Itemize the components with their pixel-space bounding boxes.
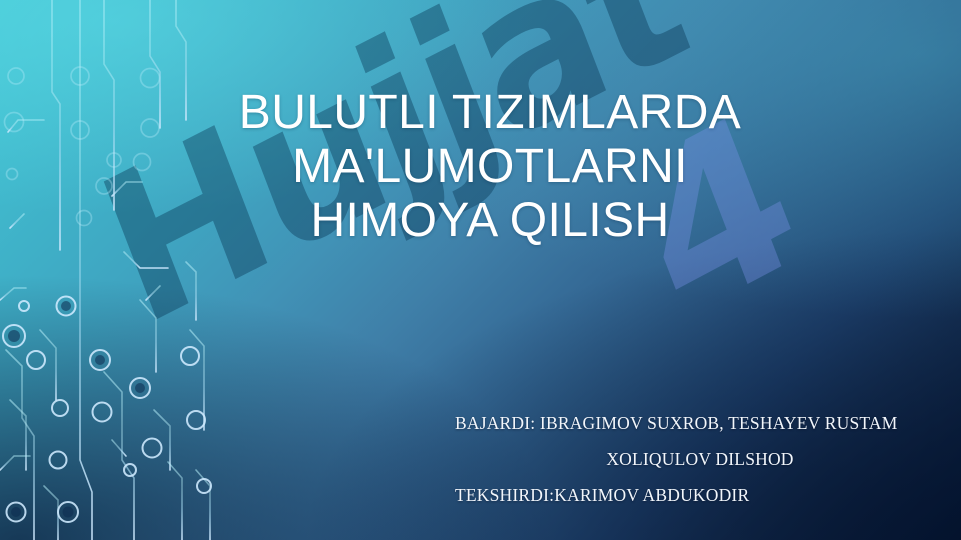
- title-line-2: MA'LUMOTLARNI: [150, 140, 830, 194]
- slide-title: BULUTLI TIZIMLARDA MA'LUMOTLARNI HIMOYA …: [150, 86, 830, 248]
- title-line-1: BULUTLI TIZIMLARDA: [150, 86, 830, 140]
- subtitle-line-reviewer: TEKSHIRDI:KARIMOV ABDUKODIR: [455, 477, 945, 513]
- subtitle-line-authors: BAJARDI: IBRAGIMOV SUXROB, TESHAYEV RUST…: [455, 405, 945, 441]
- subtitle-line-author-extra: XOLIQULOV DILSHOD: [455, 441, 945, 477]
- slide-subtitle: BAJARDI: IBRAGIMOV SUXROB, TESHAYEV RUST…: [455, 405, 945, 513]
- circuit-board-decoration: [0, 0, 215, 540]
- presentation-title-slide: Hujjat 4: [0, 0, 961, 540]
- title-line-3: HIMOYA QILISH: [150, 194, 830, 248]
